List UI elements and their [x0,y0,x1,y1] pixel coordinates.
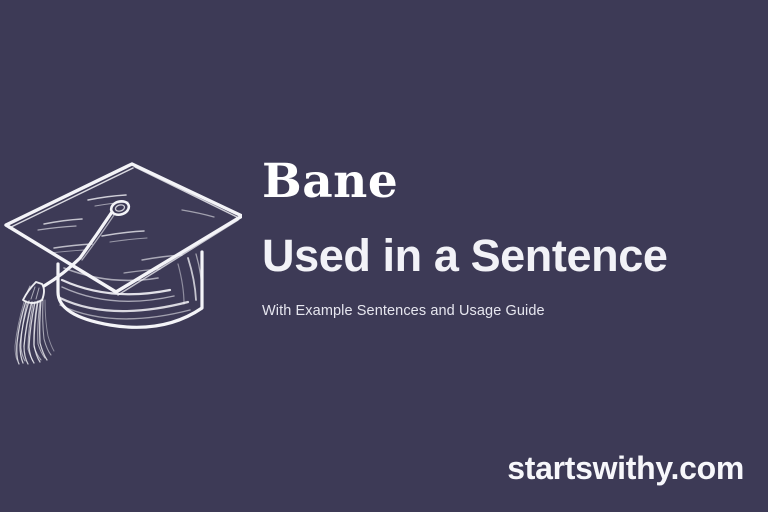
brand-watermark: startswithy.com [507,452,744,484]
graduation-cap-sketch-icon [0,140,242,365]
page-title-word: Bane [262,158,754,205]
page-subtitle: With Example Sentences and Usage Guide [262,303,754,320]
page-title-main: Used in a Sentence [262,233,754,279]
social-card-canvas: Bane Used in a Sentence With Example Sen… [0,0,768,512]
headline-block: Bane Used in a Sentence With Example Sen… [262,158,754,320]
